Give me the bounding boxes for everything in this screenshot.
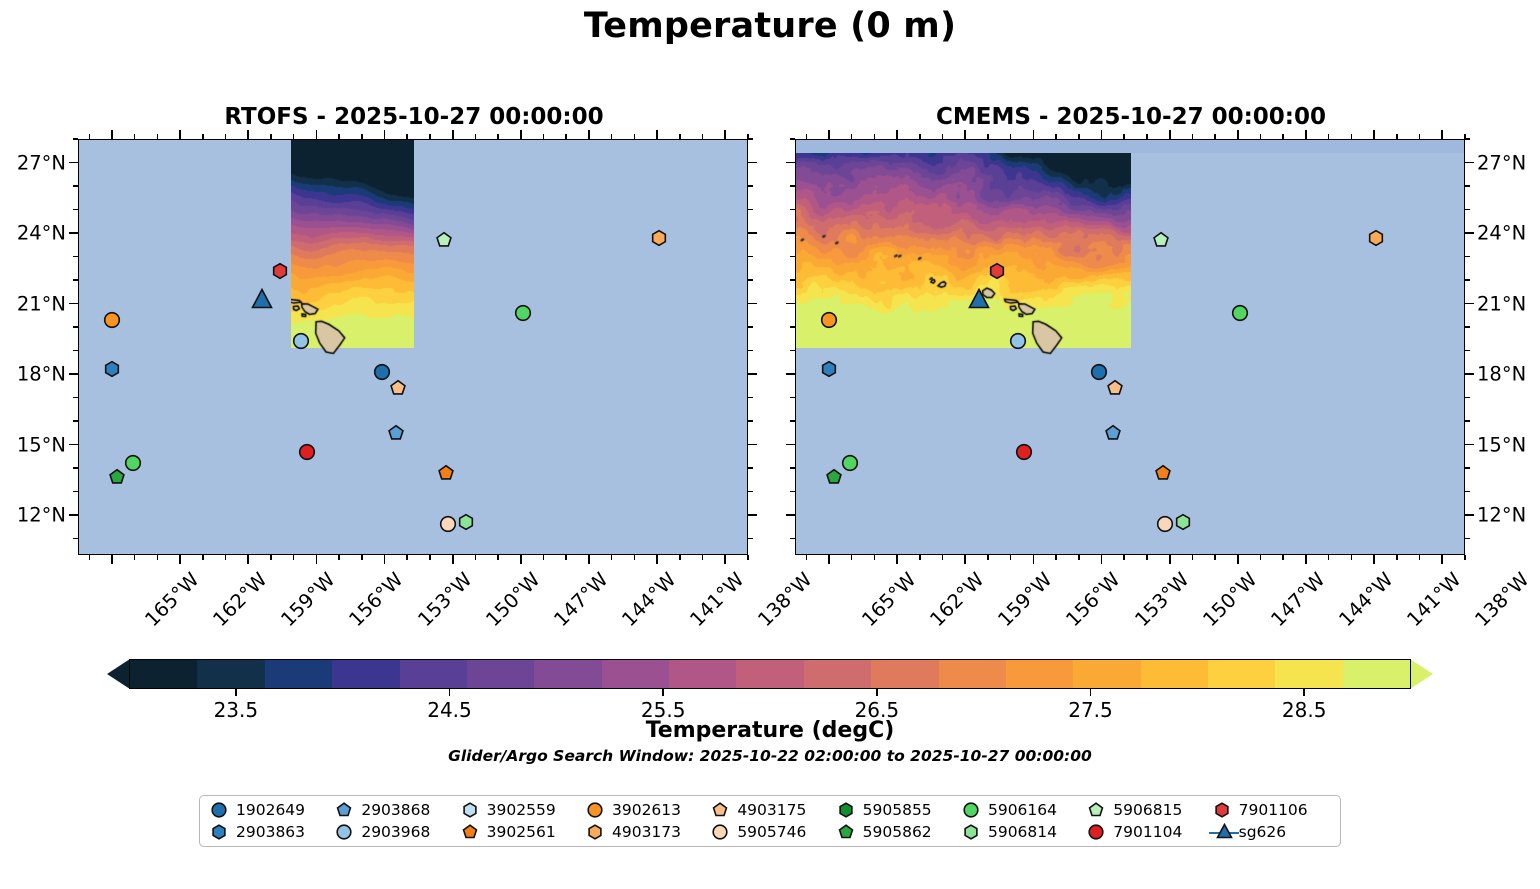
xtick-bottom xyxy=(806,555,808,560)
colorbar-label: Temperature (degC) xyxy=(0,718,1540,743)
legend-column: 59058555905862 xyxy=(833,799,958,843)
colorbar-swatch-5 xyxy=(467,660,534,688)
xtick-bottom xyxy=(987,555,989,560)
legend-entry-4903173[interactable]: 4903173 xyxy=(582,821,707,843)
ytick-left xyxy=(69,232,78,234)
colorbar-swatch-14 xyxy=(1073,660,1140,688)
platform-marker-5905746[interactable] xyxy=(440,516,457,533)
xtick-top xyxy=(1351,134,1353,139)
xtick-bottom xyxy=(384,555,386,564)
ytick-right xyxy=(748,326,753,328)
xtick-bottom xyxy=(520,555,522,564)
xtick-bottom xyxy=(1010,555,1012,560)
platform-marker-3902561[interactable] xyxy=(437,464,454,481)
legend-entry-5906164[interactable]: 5906164 xyxy=(958,799,1083,821)
map-panel-cmems[interactable] xyxy=(795,139,1465,555)
ytick-right xyxy=(748,138,753,140)
ytick-left xyxy=(73,138,78,140)
ytick-left xyxy=(73,491,78,493)
ytick-left xyxy=(786,514,795,516)
xtick-top xyxy=(1237,130,1239,139)
xtick-top xyxy=(987,134,989,139)
panel-title-rtofs: RTOFS - 2025-10-27 00:00:00 xyxy=(78,104,750,130)
colorbar-swatch-11 xyxy=(871,660,938,688)
lon-tick-label: 150°W xyxy=(1198,568,1261,631)
xtick-top xyxy=(942,134,944,139)
xtick-top xyxy=(964,130,966,139)
platform-marker-4903173[interactable] xyxy=(1368,229,1385,246)
legend-label-7901106: 7901106 xyxy=(1239,801,1308,819)
xtick-top xyxy=(656,130,658,139)
ytick-left xyxy=(73,397,78,399)
xtick-bottom xyxy=(157,555,159,560)
ytick-left xyxy=(786,373,795,375)
ytick-right xyxy=(1465,185,1470,187)
legend-entry-sg626[interactable]: sg626 xyxy=(1209,821,1334,843)
xtick-bottom xyxy=(565,555,567,560)
platform-marker-5906164b[interactable] xyxy=(515,304,532,321)
colorbar-over-arrow xyxy=(1410,659,1433,689)
xtick-bottom xyxy=(202,555,204,560)
xtick-bottom xyxy=(1396,555,1398,560)
legend-label-2903868: 2903868 xyxy=(361,801,430,819)
xtick-top xyxy=(247,130,249,139)
ytick-right xyxy=(748,209,753,211)
ytick-right xyxy=(1465,373,1474,375)
platform-marker-7901106[interactable] xyxy=(272,262,289,279)
colorbar-tick xyxy=(1303,689,1305,696)
xtick-top xyxy=(747,134,749,139)
platform-marker-2903968[interactable] xyxy=(1009,333,1026,350)
xtick-top xyxy=(679,134,681,139)
colorbar-swatch-0 xyxy=(130,660,197,688)
xtick-top xyxy=(406,134,408,139)
xtick-bottom xyxy=(1328,555,1330,560)
xtick-bottom xyxy=(497,555,499,560)
legend-entry-5905855[interactable]: 5905855 xyxy=(833,799,958,821)
ytick-right xyxy=(1465,256,1470,258)
legend-entry-1902649[interactable]: 1902649 xyxy=(206,799,331,821)
legend-column: 39026134903173 xyxy=(582,799,707,843)
platform-marker-3902613[interactable] xyxy=(104,311,121,328)
ytick-right xyxy=(1465,279,1470,281)
xtick-top xyxy=(1373,130,1375,139)
legend-marker-2903868 xyxy=(331,800,361,820)
platform-marker-5906815[interactable] xyxy=(1152,232,1169,249)
colorbar-swatch-8 xyxy=(669,660,736,688)
ytick-right xyxy=(748,444,757,446)
platform-marker-5906814[interactable] xyxy=(458,514,475,531)
xtick-top xyxy=(1010,134,1012,139)
lon-tick-label: 156°W xyxy=(1062,568,1125,631)
xtick-bottom xyxy=(1123,555,1125,560)
legend-entry-7901106[interactable]: 7901106 xyxy=(1209,799,1334,821)
ytick-right xyxy=(1465,538,1470,540)
ytick-left xyxy=(790,397,795,399)
xtick-bottom xyxy=(1282,555,1284,560)
legend-column: 7901106sg626 xyxy=(1209,799,1334,843)
xtick-top xyxy=(565,134,567,139)
platform-marker-7901106[interactable] xyxy=(989,262,1006,279)
xtick-bottom xyxy=(588,555,590,564)
ytick-left xyxy=(790,256,795,258)
ytick-left xyxy=(786,162,795,164)
platform-marker-2903968[interactable] xyxy=(292,333,309,350)
xtick-bottom xyxy=(452,555,454,564)
legend-label-5905862: 5905862 xyxy=(863,823,932,841)
ytick-left xyxy=(790,209,795,211)
ytick-right xyxy=(748,538,753,540)
ytick-right xyxy=(748,162,757,164)
xtick-top xyxy=(520,130,522,139)
xtick-bottom xyxy=(406,555,408,560)
colorbar-swatch-18 xyxy=(1343,660,1410,688)
platform-marker-4903175[interactable] xyxy=(1107,380,1124,397)
xtick-top xyxy=(634,134,636,139)
legend-label-7901104: 7901104 xyxy=(1113,823,1182,841)
ytick-left xyxy=(73,326,78,328)
xtick-bottom xyxy=(543,555,545,560)
xtick-top xyxy=(702,134,704,139)
xtick-bottom xyxy=(747,555,749,560)
colorbar-swatch-13 xyxy=(1006,660,1073,688)
lon-tick-label: 159°W xyxy=(994,568,1057,631)
xtick-top xyxy=(1123,134,1125,139)
colorbar[interactable]: 23.524.525.526.527.528.5 xyxy=(107,659,1433,689)
ytick-right xyxy=(748,397,753,399)
xtick-bottom xyxy=(1260,555,1262,560)
legend-marker-5906164 xyxy=(958,800,988,820)
legend-marker-5905746 xyxy=(707,822,737,842)
lon-tick-label: 150°W xyxy=(481,568,544,631)
colorbar-swatch-10 xyxy=(804,660,871,688)
xtick-bottom xyxy=(1101,555,1103,564)
lon-tick-label: 138°W xyxy=(1471,568,1534,631)
lat-tick-label: 15°N xyxy=(0,433,66,456)
xtick-bottom xyxy=(1192,555,1194,560)
legend-marker-4903173 xyxy=(582,822,612,842)
ytick-left xyxy=(69,303,78,305)
ytick-left xyxy=(786,232,795,234)
figure-suptitle: Temperature (0 m) xyxy=(0,6,1540,46)
platform-marker-5906164[interactable] xyxy=(841,455,858,472)
xtick-bottom xyxy=(475,555,477,560)
ytick-right xyxy=(1465,467,1470,469)
colorbar-tick xyxy=(876,689,878,696)
platform-legend[interactable]: 1902649290386329038682903968390255939025… xyxy=(199,795,1341,847)
ytick-right xyxy=(1465,491,1470,493)
legend-label-4903175: 4903175 xyxy=(737,801,806,819)
legend-label-2903968: 2903968 xyxy=(361,823,430,841)
xtick-top xyxy=(1441,130,1443,139)
lat-tick-label: 27°N xyxy=(1477,151,1540,174)
legend-entry-2903968[interactable]: 2903968 xyxy=(331,821,456,843)
xtick-top xyxy=(293,134,295,139)
legend-marker-3902561 xyxy=(457,822,487,842)
colorbar-tick xyxy=(662,689,664,696)
ytick-right xyxy=(748,514,757,516)
platform-marker-5905862[interactable] xyxy=(825,469,842,486)
legend-entry-5906815[interactable]: 5906815 xyxy=(1083,799,1208,821)
xtick-top xyxy=(1033,130,1035,139)
colorbar-under-arrow xyxy=(107,659,130,689)
platform-marker-sg626[interactable] xyxy=(251,288,273,310)
xtick-top xyxy=(1419,134,1421,139)
legend-label-5905855: 5905855 xyxy=(863,801,932,819)
colorbar-swatch-12 xyxy=(939,660,1006,688)
legend-entry-5905746[interactable]: 5905746 xyxy=(707,821,832,843)
platform-marker-sg626[interactable] xyxy=(968,288,990,310)
xtick-bottom xyxy=(851,555,853,560)
platform-marker-2903868[interactable] xyxy=(1104,424,1121,441)
xtick-bottom xyxy=(338,555,340,560)
xtick-top xyxy=(1282,134,1284,139)
ytick-right xyxy=(1465,514,1474,516)
platform-marker-5905746[interactable] xyxy=(1157,516,1174,533)
ytick-right xyxy=(1465,350,1470,352)
legend-marker-2903968 xyxy=(331,822,361,842)
colorbar-tick xyxy=(1090,689,1092,696)
ytick-right xyxy=(1465,232,1474,234)
platform-marker-2903863[interactable] xyxy=(821,361,838,378)
legend-entry-2903868[interactable]: 2903868 xyxy=(331,799,456,821)
legend-label-sg626: sg626 xyxy=(1239,823,1287,841)
xtick-top xyxy=(851,134,853,139)
platform-marker-4903173[interactable] xyxy=(651,229,668,246)
platform-marker-4903175[interactable] xyxy=(390,380,407,397)
legend-entry-3902559[interactable]: 3902559 xyxy=(457,799,582,821)
legend-column: 19026492903863 xyxy=(206,799,331,843)
lon-tick-label: 153°W xyxy=(413,568,476,631)
lon-tick-label: 162°W xyxy=(926,568,989,631)
xtick-top xyxy=(828,130,830,139)
legend-label-3902559: 3902559 xyxy=(487,801,556,819)
xtick-bottom xyxy=(361,555,363,560)
ytick-right xyxy=(748,303,757,305)
xtick-bottom xyxy=(1464,555,1466,560)
xtick-bottom xyxy=(1055,555,1057,560)
platform-marker-3902613[interactable] xyxy=(821,311,838,328)
xtick-bottom xyxy=(89,555,91,560)
platform-marker-5905862[interactable] xyxy=(108,469,125,486)
legend-entry-5905862[interactable]: 5905862 xyxy=(833,821,958,843)
ytick-left xyxy=(69,162,78,164)
nodata-mask-rtofs xyxy=(79,140,291,554)
ytick-right xyxy=(1465,326,1470,328)
xtick-bottom xyxy=(1373,555,1375,564)
xtick-top xyxy=(1214,134,1216,139)
xtick-bottom xyxy=(1078,555,1080,560)
ytick-left xyxy=(790,538,795,540)
xtick-bottom xyxy=(1237,555,1239,564)
xtick-top xyxy=(338,134,340,139)
nodata-mask-cmems xyxy=(796,140,1464,153)
ytick-right xyxy=(1465,397,1470,399)
ytick-left xyxy=(786,444,795,446)
platform-marker-1902649[interactable] xyxy=(1091,363,1108,380)
colorbar-tick xyxy=(449,689,451,696)
xtick-bottom xyxy=(293,555,295,560)
legend-entry-3902613[interactable]: 3902613 xyxy=(582,799,707,821)
legend-column: 39025593902561 xyxy=(457,799,582,843)
legend-marker-4903175 xyxy=(707,800,737,820)
xtick-bottom xyxy=(1419,555,1421,560)
xtick-top xyxy=(475,134,477,139)
colorbar-swatch-2 xyxy=(265,660,332,688)
legend-marker-5906814 xyxy=(958,822,988,842)
ytick-left xyxy=(790,185,795,187)
legend-marker-2903863 xyxy=(206,822,236,842)
legend-entry-3902561[interactable]: 3902561 xyxy=(457,821,582,843)
xtick-top xyxy=(1464,134,1466,139)
xtick-bottom xyxy=(316,555,318,564)
legend-label-5906815: 5906815 xyxy=(1113,801,1182,819)
legend-column: 59068157901104 xyxy=(1083,799,1208,843)
legend-label-3902561: 3902561 xyxy=(487,823,556,841)
lon-tick-label: 147°W xyxy=(549,568,612,631)
xtick-bottom xyxy=(724,555,726,564)
ytick-right xyxy=(1465,209,1470,211)
xtick-top xyxy=(89,134,91,139)
colorbar-swatch-9 xyxy=(736,660,803,688)
platform-marker-5906815[interactable] xyxy=(435,232,452,249)
legend-entry-5906814[interactable]: 5906814 xyxy=(958,821,1083,843)
xtick-bottom xyxy=(1146,555,1148,560)
xtick-top xyxy=(157,134,159,139)
lat-tick-label: 21°N xyxy=(0,292,66,315)
panel-title-cmems: CMEMS - 2025-10-27 00:00:00 xyxy=(795,104,1467,130)
xtick-bottom xyxy=(1351,555,1353,560)
xtick-top xyxy=(588,130,590,139)
xtick-bottom xyxy=(634,555,636,560)
xtick-top xyxy=(543,134,545,139)
ytick-left xyxy=(790,467,795,469)
platform-marker-2903868[interactable] xyxy=(387,424,404,441)
ytick-left xyxy=(73,538,78,540)
xtick-top xyxy=(919,134,921,139)
ytick-left xyxy=(790,326,795,328)
xtick-bottom xyxy=(134,555,136,560)
xtick-top xyxy=(202,134,204,139)
map-panel-rtofs[interactable] xyxy=(78,139,748,555)
landmask-hawaii-cmems xyxy=(796,140,1465,555)
xtick-bottom xyxy=(270,555,272,560)
platform-marker-3902561[interactable] xyxy=(1154,464,1171,481)
lat-tick-label: 24°N xyxy=(0,222,66,245)
ytick-right xyxy=(748,491,753,493)
colorbar-swatch-1 xyxy=(197,660,264,688)
xtick-top xyxy=(874,134,876,139)
legend-label-5906164: 5906164 xyxy=(988,801,1057,819)
xtick-top xyxy=(361,134,363,139)
ytick-left xyxy=(69,514,78,516)
colorbar-swatch-15 xyxy=(1141,660,1208,688)
xtick-top xyxy=(1192,134,1194,139)
ytick-left xyxy=(73,185,78,187)
xtick-bottom xyxy=(919,555,921,560)
lon-tick-label: 156°W xyxy=(345,568,408,631)
xtick-top xyxy=(806,134,808,139)
legend-label-2903863: 2903863 xyxy=(236,823,305,841)
lat-tick-label: 21°N xyxy=(1477,292,1540,315)
ytick-right xyxy=(748,420,753,422)
legend-marker-sg626 xyxy=(1209,822,1239,842)
legend-label-1902649: 1902649 xyxy=(236,801,305,819)
ytick-left xyxy=(790,491,795,493)
colorbar-swatch-4 xyxy=(400,660,467,688)
lon-tick-label: 141°W xyxy=(1403,568,1466,631)
xtick-bottom xyxy=(429,555,431,560)
lon-tick-label: 147°W xyxy=(1266,568,1329,631)
ytick-right xyxy=(748,467,753,469)
xtick-bottom xyxy=(964,555,966,564)
legend-entry-7901104[interactable]: 7901104 xyxy=(1083,821,1208,843)
legend-marker-5905855 xyxy=(833,800,863,820)
xtick-bottom xyxy=(1214,555,1216,560)
platform-marker-5906164b[interactable] xyxy=(1232,304,1249,321)
lat-tick-label: 12°N xyxy=(0,504,66,527)
lon-tick-label: 138°W xyxy=(754,568,817,631)
ytick-right xyxy=(748,185,753,187)
xtick-top xyxy=(1260,134,1262,139)
ytick-left xyxy=(790,350,795,352)
legend-entry-4903175[interactable]: 4903175 xyxy=(707,799,832,821)
ytick-left xyxy=(73,467,78,469)
legend-marker-3902613 xyxy=(582,800,612,820)
platform-marker-2903863[interactable] xyxy=(104,361,121,378)
lon-tick-label: 144°W xyxy=(1334,568,1397,631)
ytick-right xyxy=(748,256,753,258)
xtick-top xyxy=(1078,134,1080,139)
platform-marker-7901104[interactable] xyxy=(299,443,316,460)
legend-entry-2903863[interactable]: 2903863 xyxy=(206,821,331,843)
xtick-bottom xyxy=(702,555,704,560)
legend-marker-1902649 xyxy=(206,800,236,820)
colorbar-swatch-3 xyxy=(332,660,399,688)
xtick-bottom xyxy=(896,555,898,564)
xtick-top xyxy=(896,130,898,139)
lon-tick-label: 159°W xyxy=(277,568,340,631)
xtick-top xyxy=(384,130,386,139)
legend-marker-5905862 xyxy=(833,822,863,842)
ytick-left xyxy=(73,420,78,422)
platform-marker-5906164[interactable] xyxy=(124,455,141,472)
platform-marker-1902649[interactable] xyxy=(374,363,391,380)
ytick-right xyxy=(748,279,753,281)
legend-label-3902613: 3902613 xyxy=(612,801,681,819)
ytick-left xyxy=(790,279,795,281)
platform-marker-5906814[interactable] xyxy=(1175,514,1192,531)
xtick-bottom xyxy=(179,555,181,564)
lat-tick-label: 12°N xyxy=(1477,504,1540,527)
lat-tick-label: 18°N xyxy=(0,363,66,386)
legend-marker-5906815 xyxy=(1083,800,1113,820)
xtick-top xyxy=(452,130,454,139)
xtick-bottom xyxy=(942,555,944,560)
xtick-top xyxy=(1305,130,1307,139)
lon-tick-label: 144°W xyxy=(617,568,680,631)
xtick-top xyxy=(270,134,272,139)
xtick-top xyxy=(724,130,726,139)
xtick-bottom xyxy=(1169,555,1171,564)
ytick-left xyxy=(69,373,78,375)
legend-marker-7901106 xyxy=(1209,800,1239,820)
lon-tick-label: 165°W xyxy=(857,568,920,631)
platform-marker-7901104[interactable] xyxy=(1016,443,1033,460)
legend-label-5906814: 5906814 xyxy=(988,823,1057,841)
legend-marker-3902559 xyxy=(457,800,487,820)
ytick-right xyxy=(1465,138,1470,140)
